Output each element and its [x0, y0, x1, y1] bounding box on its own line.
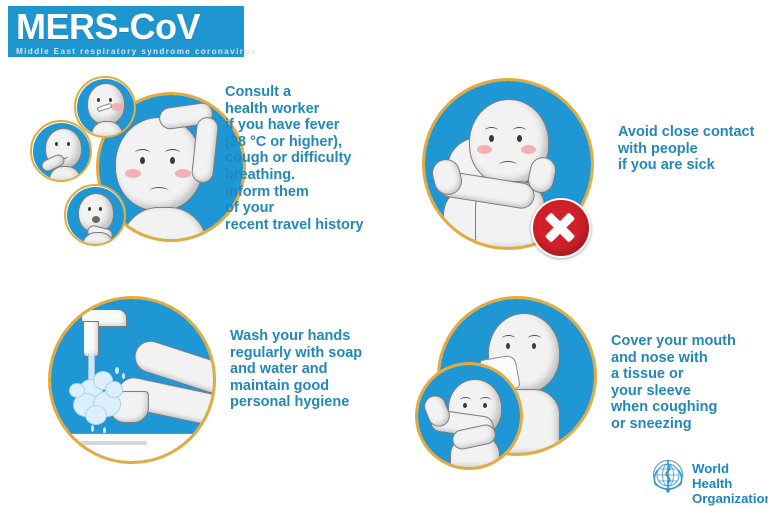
panel1-text: Consult a health worker if you have feve… — [225, 84, 364, 233]
panel1-symptom-circle-cough — [33, 123, 90, 180]
title-banner: MERS-CoV Middle East respiratory syndrom… — [8, 6, 244, 57]
faucet-spout — [83, 321, 99, 357]
soap-suds — [85, 405, 107, 425]
who-emblem-icon — [648, 456, 688, 496]
panel3-main-circle-illustration — [51, 299, 213, 461]
sink-counter — [67, 433, 199, 461]
who-logo-text: World Health Organization — [692, 461, 768, 506]
panel-avoid-close-contact: Avoid close contact with people if you a… — [418, 70, 758, 260]
prohibition-badge-icon — [531, 198, 591, 258]
soap-suds — [105, 381, 123, 398]
panel1-symptom-circle-breathing — [67, 187, 124, 244]
panel-cover-mouth-and-nose: Cover your mouth and nose with a tissue … — [415, 290, 760, 475]
page-subtitle: Middle East respiratory syndrome coronav… — [16, 46, 236, 57]
panel3-text: Wash your hands regularly with soap and … — [230, 328, 362, 411]
water-droplet — [122, 373, 125, 379]
who-logo: World Health Organization — [648, 456, 764, 496]
panel4-secondary-circle-illustration — [418, 365, 520, 467]
panel2-text: Avoid close contact with people if you a… — [618, 124, 754, 174]
water-droplet — [115, 367, 119, 374]
panel4-text: Cover your mouth and nose with a tissue … — [611, 333, 736, 433]
panel1-symptom-circle-fever — [77, 79, 134, 136]
soap-suds — [69, 383, 85, 398]
page-title: MERS-CoV — [16, 9, 236, 45]
water-droplet — [91, 425, 94, 432]
panel-consult-health-worker: Consult a health worker if you have feve… — [18, 70, 388, 260]
panel-wash-your-hands: Wash your hands regularly with soap and … — [30, 290, 400, 475]
